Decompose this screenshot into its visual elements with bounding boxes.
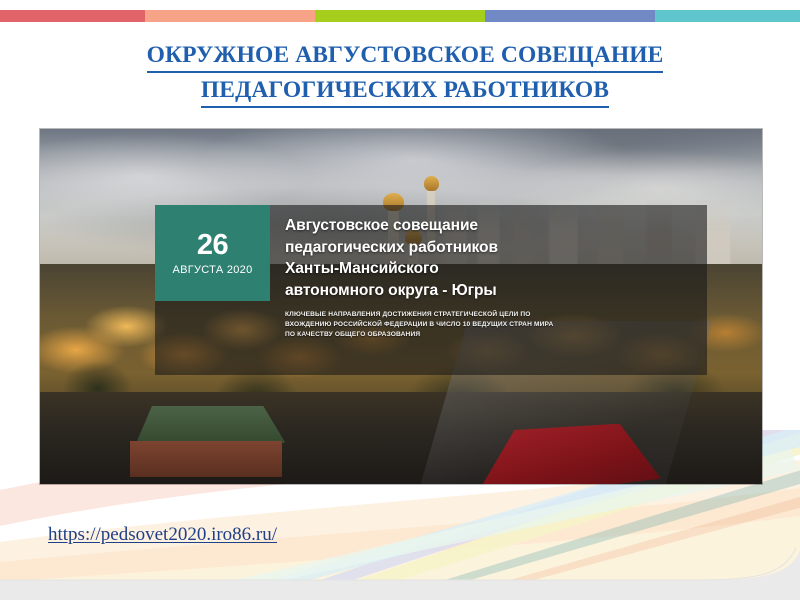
conference-url-link[interactable]: https://pedsovet2020.iro86.ru/ bbox=[48, 524, 277, 546]
color-segment-teal bbox=[655, 10, 800, 22]
overlay-subtitle: КЛЮЧЕВЫЕ НАПРАВЛЕНИЯ ДОСТИЖЕНИЯ СТРАТЕГИ… bbox=[285, 310, 695, 339]
brick-wall bbox=[130, 441, 282, 477]
red-roof bbox=[473, 424, 661, 484]
green-roof bbox=[127, 406, 286, 443]
red-roof-building bbox=[473, 424, 661, 484]
date-badge: 26 АВГУСТА 2020 bbox=[155, 205, 270, 301]
presentation-slide: ОКРУЖНОЕ АВГУСТОВСКОЕ СОВЕЩАНИЕ ПЕДАГОГИ… bbox=[0, 0, 800, 600]
page-title-line-2: ПЕДАГОГИЧЕСКИХ РАБОТНИКОВ bbox=[201, 75, 609, 108]
overlay-subtitle-line-2: ВХОЖДЕНИЮ РОССИЙСКОЙ ФЕДЕРАЦИИ В ЧИСЛО 1… bbox=[285, 320, 695, 330]
church-dome-right bbox=[424, 176, 439, 192]
bottom-corner-curve bbox=[0, 548, 796, 580]
overlay-subtitle-line-1: КЛЮЧЕВЫЕ НАПРАВЛЕНИЯ ДОСТИЖЕНИЯ СТРАТЕГИ… bbox=[285, 310, 695, 320]
date-day: 26 bbox=[197, 231, 228, 260]
ribbon-orange-accent bbox=[440, 482, 800, 600]
top-color-bar bbox=[0, 10, 800, 22]
photo-overlay-text: Августовское совещание педагогических ра… bbox=[285, 215, 695, 339]
overlay-heading: Августовское совещание педагогических ра… bbox=[285, 215, 695, 301]
color-segment-peach bbox=[145, 10, 315, 22]
bottom-gray-strip bbox=[0, 550, 800, 600]
color-segment-lime bbox=[315, 10, 485, 22]
overlay-subtitle-line-3: ПО КАЧЕСТВУ ОБЩЕГО ОБРАЗОВАНИЯ bbox=[285, 330, 695, 340]
page-title-line-1: ОКРУЖНОЕ АВГУСТОВСКОЕ СОВЕЩАНИЕ bbox=[147, 40, 664, 73]
page-title: ОКРУЖНОЕ АВГУСТОВСКОЕ СОВЕЩАНИЕ ПЕДАГОГИ… bbox=[60, 40, 750, 108]
conference-photo: 26 АВГУСТА 2020 Августовское совещание п… bbox=[40, 129, 762, 484]
green-roof-building bbox=[127, 406, 286, 477]
overlay-heading-line-1: Августовское совещание bbox=[285, 215, 695, 237]
overlay-heading-line-4: автономного округа - Югры bbox=[285, 280, 695, 302]
color-segment-periwinkle bbox=[485, 10, 655, 22]
color-segment-salmon bbox=[0, 10, 145, 22]
overlay-heading-line-2: педагогических работников bbox=[285, 237, 695, 259]
date-month-year: АВГУСТА 2020 bbox=[172, 264, 252, 276]
overlay-heading-line-3: Ханты-Мансийского bbox=[285, 258, 695, 280]
